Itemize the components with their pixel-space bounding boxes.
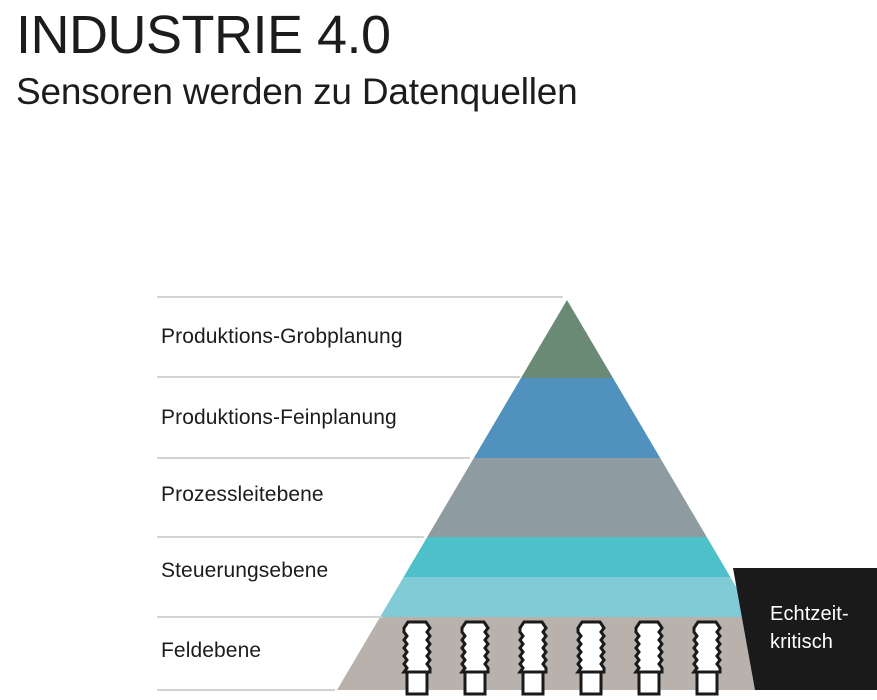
callout-line-1: Echtzeit- bbox=[770, 600, 877, 628]
sensor-icon bbox=[462, 622, 488, 694]
level-label-prozessleitebene: Prozessleitebene bbox=[161, 483, 324, 507]
level-label-feldebene: Feldebene bbox=[161, 639, 261, 663]
level-label-steuerungsebene: Steuerungsebene bbox=[161, 559, 328, 583]
sensor-icon bbox=[520, 622, 546, 694]
pyramid-diagram bbox=[0, 0, 877, 700]
band-prozessleitebene bbox=[300, 458, 820, 537]
sensor-icon bbox=[578, 622, 604, 694]
callout-line-2: kritisch bbox=[770, 628, 877, 656]
infographic-root: INDUSTRIE 4.0 Sensoren werden zu Datenqu… bbox=[0, 0, 877, 700]
level-label-produktions-grobplanung: Produktions-Grobplanung bbox=[161, 325, 403, 349]
sensor-icon bbox=[694, 622, 720, 694]
pyramid-bands bbox=[300, 295, 820, 692]
sensor-icon bbox=[404, 622, 430, 694]
band-feldebene bbox=[300, 617, 820, 692]
level-label-produktions-feinplanung: Produktions-Feinplanung bbox=[161, 406, 397, 430]
sensor-icon bbox=[636, 622, 662, 694]
realtime-callout-text: Echtzeit- kritisch bbox=[770, 600, 877, 656]
